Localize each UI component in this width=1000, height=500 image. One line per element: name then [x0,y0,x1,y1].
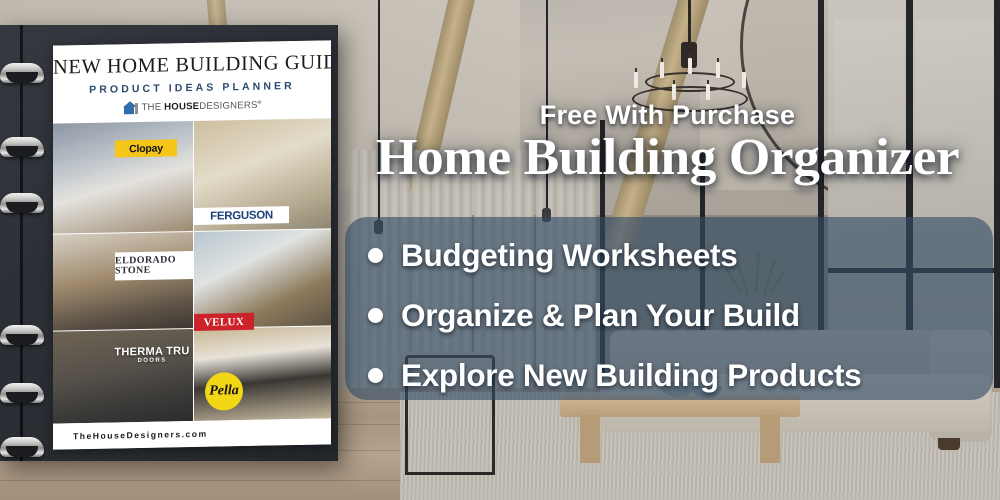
binder-ring [0,437,44,457]
benefits-list: Budgeting Worksheets Organize & Plan You… [368,228,988,402]
binder-ring [0,63,44,83]
list-item-label: Organize & Plan Your Build [401,297,800,334]
list-item: Budgeting Worksheets [368,228,988,282]
cover-photo-grid: Clopay FERGUSON ELDORADO STONE THERMA TR… [53,118,331,423]
cover-header: NEW HOME BUILDING GUIDE PRODUCT IDEAS PL… [53,40,331,123]
sofa-leg [938,438,960,450]
list-item: Explore New Building Products [368,348,988,402]
coffee-table-leg [760,415,780,463]
brand-badge-eldorado-stone: ELDORADO STONE [115,251,193,280]
brand-badge-clopay: Clopay [115,139,177,157]
the-house-designers-logo: THE HOUSEDESIGNERS® [53,97,331,115]
cover-website: TheHouseDesigners.com [53,429,208,442]
binder-ring [0,383,44,403]
binder-ring [0,325,44,345]
logo-designers: DESIGNERS [199,100,257,112]
brand-badge-velux: VELUX [194,313,254,331]
brand-label: FERGUSON [210,209,273,222]
brand-badge-therma-tru: THERMA TRU DOORS [111,343,193,367]
brand-sublabel: DOORS [137,357,166,364]
logo-trademark: ® [258,100,262,106]
bullet-dot-icon [368,368,383,383]
logo-the: THE [142,102,165,113]
binder-ring [0,193,44,213]
list-item-label: Explore New Building Products [401,357,861,394]
page-title: Home Building Organizer [330,132,1000,184]
list-item: Organize & Plan Your Build [368,288,988,342]
brand-badge-ferguson: FERGUSON [194,206,289,225]
brand-label: ELDORADO STONE [115,254,193,276]
cover-title: NEW HOME BUILDING GUIDE [53,51,331,79]
brand-label: THERMA TRU [114,346,189,358]
eyebrow-text: Free With Purchase [345,100,990,131]
bullet-dot-icon [368,308,383,323]
cover-photo-island [53,232,193,331]
list-item-label: Budgeting Worksheets [401,237,737,274]
promo-banner: NEW HOME BUILDING GUIDE PRODUCT IDEAS PL… [0,0,1000,500]
logo-wordmark: THE HOUSEDESIGNERS® [142,100,262,113]
coffee-table-leg [580,415,600,463]
brand-label: VELUX [204,315,245,328]
guide-cover: NEW HOME BUILDING GUIDE PRODUCT IDEAS PL… [53,40,331,449]
brand-label: Clopay [129,142,163,155]
brand-label: Pella [209,383,239,400]
house-icon [123,101,138,114]
logo-house: HOUSE [164,101,199,113]
bullet-dot-icon [368,248,383,263]
binder-ring [0,137,44,157]
cover-subtitle: PRODUCT IDEAS PLANNER [53,79,331,96]
cover-footer: TheHouseDesigners.com [53,418,331,449]
binder: NEW HOME BUILDING GUIDE PRODUCT IDEAS PL… [0,25,338,461]
cover-photo-garage [53,121,193,234]
